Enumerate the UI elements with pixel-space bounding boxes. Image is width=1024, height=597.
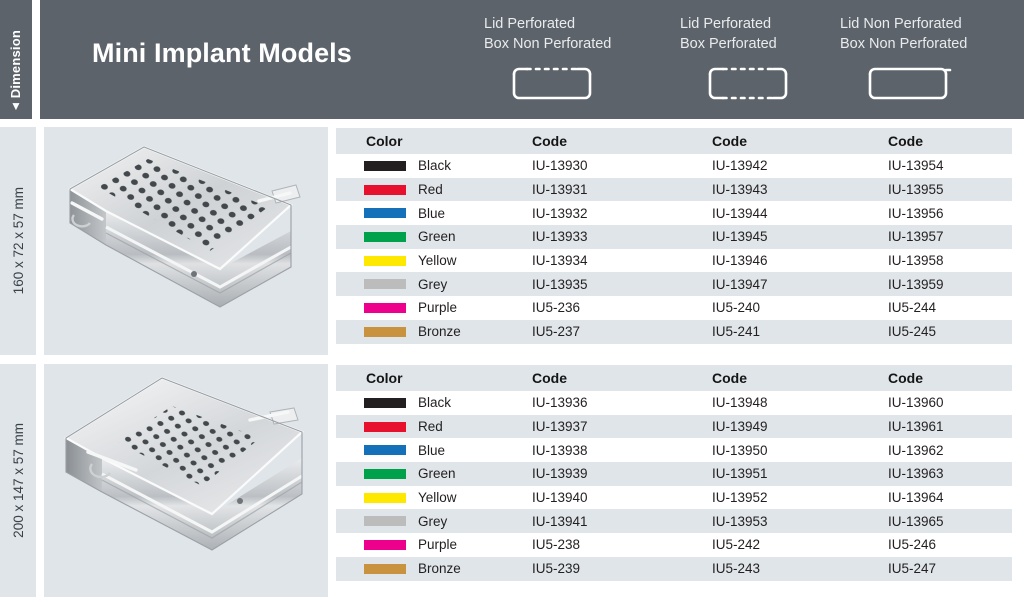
color-swatch [364, 533, 406, 557]
product-code: IU-13961 [888, 415, 944, 439]
product-code: IU-13947 [712, 272, 768, 296]
header-column-group: Lid Perforated Box Non Perforated [40, 0, 1024, 119]
color-swatch [364, 296, 406, 320]
product-code: IU5-237 [532, 320, 580, 344]
color-name: Red [418, 178, 443, 202]
color-swatch [364, 272, 406, 296]
color-swatch [364, 557, 406, 581]
column-header-color: Color [366, 365, 403, 391]
product-code: IU-13940 [532, 486, 588, 510]
product-code: IU-13963 [888, 462, 944, 486]
product-code: IU5-236 [532, 296, 580, 320]
header-column-lid-non-perforated-box-non-perforated: Lid Non Perforated Box Non Perforated [840, 14, 1024, 106]
product-code: IU-13953 [712, 509, 768, 533]
column-header-code-2: Code [712, 365, 747, 391]
mini-implant-container-160-image [44, 127, 328, 355]
table-row: YellowIU-13934IU-13946IU-13958 [336, 249, 1012, 273]
product-code: IU-13949 [712, 415, 768, 439]
color-swatch [364, 438, 406, 462]
chevron-down-icon: ▼ [10, 100, 22, 112]
product-code: IU-13951 [712, 462, 768, 486]
color-name: Yellow [418, 249, 457, 273]
product-code: IU-13955 [888, 178, 944, 202]
mini-implant-container-200-image [44, 364, 328, 597]
box-lid-and-box-perforated-icon [702, 61, 794, 106]
page-header: Dimension ▼ Mini Implant Models Lid Perf… [0, 0, 1024, 119]
dimension-strip-section-1: 160 x 72 x 57 mm [0, 127, 36, 355]
product-code: IU5-247 [888, 557, 936, 581]
product-code: IU-13939 [532, 462, 588, 486]
box-non-perforated-icon [862, 61, 954, 106]
table-row: GreyIU-13935IU-13947IU-13959 [336, 272, 1012, 296]
product-code: IU5-240 [712, 296, 760, 320]
table-header-row: Color Code Code Code [336, 128, 1012, 154]
product-code: IU-13946 [712, 249, 768, 273]
color-swatch [364, 249, 406, 273]
header-column-line2: Box Perforated [680, 34, 777, 54]
color-name: Blue [418, 438, 445, 462]
product-code: IU5-244 [888, 296, 936, 320]
product-catalog-page: Dimension ▼ Mini Implant Models Lid Perf… [0, 0, 1024, 597]
table-row: PurpleIU5-238IU5-242IU5-246 [336, 533, 1012, 557]
column-header-code-3: Code [888, 128, 923, 154]
product-code: IU-13952 [712, 486, 768, 510]
header-column-lid-perforated-box-non-perforated: Lid Perforated Box Non Perforated [484, 14, 674, 106]
color-swatch [364, 391, 406, 415]
header-band: Mini Implant Models Lid Perforated Box N… [40, 0, 1024, 119]
product-code: IU-13960 [888, 391, 944, 415]
product-code: IU5-242 [712, 533, 760, 557]
color-swatch [364, 509, 406, 533]
product-table-section-1: Color Code Code Code BlackIU-13930IU-139… [336, 128, 1012, 344]
column-header-code-2: Code [712, 128, 747, 154]
header-column-line1: Lid Perforated [680, 14, 771, 34]
product-code: IU-13930 [532, 154, 588, 178]
color-swatch [364, 225, 406, 249]
product-code: IU-13942 [712, 154, 768, 178]
table-row: BronzeIU5-237IU5-241IU5-245 [336, 320, 1012, 344]
product-code: IU-13931 [532, 178, 588, 202]
color-name: Black [418, 154, 451, 178]
product-code: IU-13938 [532, 438, 588, 462]
column-header-color: Color [366, 128, 403, 154]
product-code: IU-13945 [712, 225, 768, 249]
product-code: IU-13941 [532, 509, 588, 533]
dimension-strip-section-2: 200 x 147 x 57 mm [0, 364, 36, 597]
table-row: RedIU-13937IU-13949IU-13961 [336, 415, 1012, 439]
color-name: Grey [418, 272, 447, 296]
color-name: Red [418, 415, 443, 439]
header-column-line2: Box Non Perforated [840, 34, 967, 54]
table-row: BlackIU-13936IU-13948IU-13960 [336, 391, 1012, 415]
color-swatch [364, 154, 406, 178]
product-code: IU-13954 [888, 154, 944, 178]
product-code: IU-13948 [712, 391, 768, 415]
table-row: BronzeIU5-239IU5-243IU5-247 [336, 557, 1012, 581]
product-code: IU5-238 [532, 533, 580, 557]
dimension-tab-label: Dimension [0, 30, 32, 98]
product-code: IU-13959 [888, 272, 944, 296]
color-name: Green [418, 462, 456, 486]
color-name: Black [418, 391, 451, 415]
product-code: IU5-239 [532, 557, 580, 581]
product-code: IU-13935 [532, 272, 588, 296]
product-code: IU5-246 [888, 533, 936, 557]
color-name: Purple [418, 533, 457, 557]
table-row: BlackIU-13930IU-13942IU-13954 [336, 154, 1012, 178]
column-header-code-1: Code [532, 365, 567, 391]
product-code: IU-13962 [888, 438, 944, 462]
header-column-line1: Lid Perforated [484, 14, 575, 34]
table-row: PurpleIU5-236IU5-240IU5-244 [336, 296, 1012, 320]
table-body-section-2: BlackIU-13936IU-13948IU-13960RedIU-13937… [336, 391, 1012, 581]
header-column-line1: Lid Non Perforated [840, 14, 962, 34]
color-swatch [364, 201, 406, 225]
product-code: IU-13965 [888, 509, 944, 533]
product-code: IU-13943 [712, 178, 768, 202]
color-name: Grey [418, 509, 447, 533]
box-lid-perforated-icon [506, 61, 598, 106]
color-name: Bronze [418, 557, 461, 581]
color-swatch [364, 415, 406, 439]
product-code: IU-13956 [888, 201, 944, 225]
color-swatch [364, 486, 406, 510]
color-name: Green [418, 225, 456, 249]
table-row: BlueIU-13932IU-13944IU-13956 [336, 201, 1012, 225]
table-row: GreenIU-13933IU-13945IU-13957 [336, 225, 1012, 249]
table-row: RedIU-13931IU-13943IU-13955 [336, 178, 1012, 202]
table-body-section-1: BlackIU-13930IU-13942IU-13954RedIU-13931… [336, 154, 1012, 344]
color-name: Bronze [418, 320, 461, 344]
table-row: YellowIU-13940IU-13952IU-13964 [336, 486, 1012, 510]
table-header-row: Color Code Code Code [336, 365, 1012, 391]
product-code: IU-13950 [712, 438, 768, 462]
product-code: IU-13944 [712, 201, 768, 225]
product-code: IU5-243 [712, 557, 760, 581]
product-code: IU-13957 [888, 225, 944, 249]
product-code: IU5-241 [712, 320, 760, 344]
product-code: IU-13958 [888, 249, 944, 273]
product-table-section-2: Color Code Code Code BlackIU-13936IU-139… [336, 365, 1012, 581]
color-name: Yellow [418, 486, 457, 510]
color-swatch [364, 462, 406, 486]
column-header-code-1: Code [532, 128, 567, 154]
product-code: IU-13934 [532, 249, 588, 273]
color-swatch [364, 178, 406, 202]
product-code: IU-13933 [532, 225, 588, 249]
table-row: GreyIU-13941IU-13953IU-13965 [336, 509, 1012, 533]
product-code: IU-13936 [532, 391, 588, 415]
product-code: IU-13964 [888, 486, 944, 510]
color-name: Blue [418, 201, 445, 225]
product-code: IU-13937 [532, 415, 588, 439]
table-row: GreenIU-13939IU-13951IU-13963 [336, 462, 1012, 486]
dimension-label: 200 x 147 x 57 mm [11, 423, 26, 538]
product-code: IU5-245 [888, 320, 936, 344]
dimension-label: 160 x 72 x 57 mm [11, 187, 26, 294]
color-swatch [364, 320, 406, 344]
dimension-tab[interactable]: Dimension ▼ [0, 0, 32, 119]
color-name: Purple [418, 296, 457, 320]
header-column-line2: Box Non Perforated [484, 34, 611, 54]
column-header-code-3: Code [888, 365, 923, 391]
table-row: BlueIU-13938IU-13950IU-13962 [336, 438, 1012, 462]
product-code: IU-13932 [532, 201, 588, 225]
